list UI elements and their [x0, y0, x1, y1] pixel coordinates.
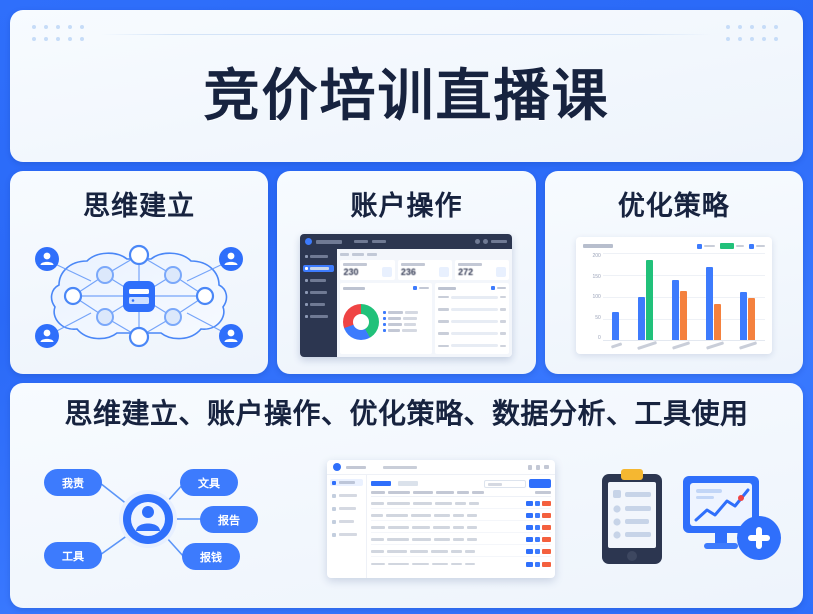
x-tick	[637, 341, 657, 350]
y-tick: 0	[598, 335, 601, 341]
stat-card: 236	[398, 260, 452, 280]
donut-chart-wrap	[343, 292, 429, 351]
bar-series1	[706, 267, 713, 340]
tab-monitored[interactable]	[398, 481, 418, 486]
chart-title-blur	[583, 244, 613, 248]
mindmap-center	[119, 490, 177, 548]
y-tick: 50	[595, 315, 601, 321]
feature-card-account-ops[interactable]: 账户操作	[277, 171, 535, 374]
column-header	[457, 491, 469, 494]
row-actions[interactable]	[526, 513, 551, 518]
pill-label: 报告	[218, 513, 240, 527]
panel-legend	[413, 286, 429, 290]
progress-bars-list	[438, 292, 506, 351]
search-input[interactable]	[484, 480, 526, 488]
stat-label-blur	[458, 263, 482, 266]
sidebar-item-active[interactable]	[303, 265, 334, 272]
bar-series1	[612, 312, 619, 340]
stat-value: 272	[458, 268, 482, 277]
gear-icon[interactable]	[536, 465, 540, 470]
pill-top-left: 我责	[44, 469, 102, 496]
clipboard-checklist-icon	[599, 468, 665, 568]
bar-chart-illustration: 200 150 100 50 0	[545, 223, 803, 374]
bell-icon[interactable]	[528, 465, 532, 470]
pill-bottom-left: 工具	[44, 542, 102, 569]
table-mockup	[327, 460, 555, 578]
table-mockup-sidebar	[327, 475, 367, 578]
y-tick: 200	[592, 253, 600, 259]
gear-icon[interactable]	[483, 239, 488, 244]
feature-card-title: 账户操作	[350, 184, 462, 223]
legend-row	[383, 317, 429, 320]
dashboard-illustration: 230 236	[277, 223, 535, 374]
page-heading-blur	[383, 466, 417, 469]
sidebar-item[interactable]	[303, 313, 334, 320]
legend-item-series1	[697, 243, 715, 249]
sidebar-item[interactable]	[303, 289, 334, 296]
mockup-content: 230 236	[337, 249, 512, 357]
stat-icon	[439, 267, 449, 277]
legend-row	[383, 311, 429, 314]
y-axis: 200 150 100 50 0	[583, 253, 603, 350]
search-button[interactable]	[529, 479, 551, 488]
header-card: 竞价培训直播课	[10, 10, 803, 162]
bottom-headline: 思维建立、账户操作、优化策略、数据分析、工具使用	[64, 392, 748, 432]
feature-cards-row: 思维建立	[10, 171, 803, 374]
sidebar-item[interactable]	[330, 518, 363, 525]
bar-series3	[680, 291, 687, 340]
bar-group	[672, 253, 687, 340]
table-mockup-content	[367, 475, 555, 578]
sidebar-item[interactable]	[303, 301, 334, 308]
monitor-trend-chart-icon	[679, 470, 785, 566]
bar-group	[740, 253, 755, 340]
pill-bottom-right: 报钱	[182, 543, 240, 570]
column-header	[388, 491, 410, 494]
breadcrumb	[340, 252, 509, 257]
chart-bar-groups	[603, 253, 765, 341]
chart-legend	[697, 243, 765, 249]
stat-value: 236	[401, 268, 425, 277]
bar-series3	[714, 304, 721, 340]
user-name-blur[interactable]	[491, 240, 507, 243]
legend-item-series2	[720, 243, 744, 249]
legend-row	[383, 323, 429, 326]
panels-row	[340, 283, 509, 354]
pill-mid-right: 报告	[200, 506, 258, 533]
sidebar-item[interactable]	[303, 253, 334, 260]
brand-name-blur	[316, 240, 342, 244]
donut-chart	[343, 304, 379, 340]
stat-card: 230	[340, 260, 394, 280]
y-tick: 150	[592, 274, 600, 280]
nav-item-blur	[372, 240, 386, 243]
bar-series1	[740, 292, 747, 340]
tab-all-data[interactable]	[371, 481, 391, 486]
feature-card-title: 优化策略	[618, 184, 730, 223]
network-mindmap-icon	[29, 237, 249, 355]
x-tick	[610, 343, 621, 349]
bottom-illustrations: 我责 工具 文具 报告 报钱	[10, 432, 803, 608]
stat-icon	[382, 267, 392, 277]
donut-panel	[340, 283, 432, 354]
progress-row	[438, 296, 506, 299]
progress-row	[438, 320, 506, 323]
row-actions[interactable]	[526, 562, 551, 567]
legend-item-series3	[749, 243, 765, 249]
x-tick	[672, 342, 690, 350]
dashboard-mockup: 230 236	[300, 234, 512, 357]
sidebar-item[interactable]	[330, 505, 363, 512]
table-header-row	[371, 491, 551, 497]
donut-legend	[383, 311, 429, 332]
progress-row	[438, 308, 506, 311]
table-mockup-topbar	[327, 460, 555, 475]
panel-header	[438, 286, 506, 290]
bar-series2	[646, 260, 653, 340]
dot-grid-left-icon	[32, 25, 87, 44]
table-row[interactable]	[371, 500, 551, 509]
brand-logo-icon	[305, 238, 312, 245]
brand-name-blur	[346, 466, 366, 469]
column-header	[413, 491, 433, 494]
header-divider	[101, 34, 712, 35]
x-tick	[706, 342, 724, 350]
chart-header	[583, 243, 765, 249]
bar-series3	[748, 298, 755, 340]
table-mockup-body	[327, 475, 555, 578]
table-row[interactable]	[371, 536, 551, 545]
panel-title-blur	[438, 287, 456, 290]
column-header	[472, 491, 484, 494]
table-row[interactable]	[371, 512, 551, 521]
network-illustration	[10, 223, 268, 374]
mindmap-illustration: 我责 工具 文具 报告 报钱	[24, 457, 282, 581]
bar-group	[706, 253, 721, 340]
dot-grid-right-icon	[726, 25, 781, 44]
stat-value: 230	[343, 268, 367, 277]
bars-panel	[435, 283, 509, 354]
progress-row	[438, 344, 506, 347]
progress-row	[438, 332, 506, 335]
chart-plot: 200 150 100 50 0	[583, 253, 765, 350]
header-decoration	[10, 10, 803, 58]
column-header	[535, 491, 551, 494]
column-header	[436, 491, 454, 494]
pill-label: 我责	[62, 476, 84, 490]
table-row[interactable]	[371, 548, 551, 557]
mockup-sidebar	[300, 249, 337, 357]
y-tick: 100	[592, 294, 600, 300]
sidebar-item[interactable]	[303, 277, 334, 284]
stat-label-blur	[401, 263, 425, 266]
add-plus-badge-icon	[737, 516, 781, 560]
row-actions[interactable]	[526, 525, 551, 530]
nav-item-blur	[354, 240, 368, 243]
row-actions[interactable]	[526, 537, 551, 542]
panel-title-blur	[343, 287, 365, 290]
row-actions[interactable]	[526, 549, 551, 554]
bottom-card: 思维建立、账户操作、优化策略、数据分析、工具使用	[10, 383, 803, 608]
pill-label: 文具	[198, 476, 220, 490]
table-tabs	[371, 479, 551, 488]
table-row[interactable]	[371, 524, 551, 533]
column-header	[371, 491, 385, 494]
bar-chart-mockup: 200 150 100 50 0	[576, 237, 772, 354]
bar-group	[638, 253, 653, 340]
panel-header	[343, 286, 429, 290]
pill-label: 报钱	[200, 550, 222, 564]
bell-icon[interactable]	[475, 239, 480, 244]
bar-series1	[638, 297, 645, 341]
stat-label-blur	[343, 263, 367, 266]
feature-card-optimization[interactable]: 优化策略 200 150	[545, 171, 803, 374]
bar-group	[612, 253, 619, 340]
table-row[interactable]	[371, 560, 551, 569]
panel-legend	[491, 286, 506, 290]
legend-row	[383, 329, 429, 332]
feature-card-mindset[interactable]: 思维建立	[10, 171, 268, 374]
x-axis	[603, 341, 765, 350]
server-icon	[123, 281, 155, 312]
sidebar-item[interactable]	[330, 531, 363, 538]
sidebar-item-active[interactable]	[330, 479, 363, 486]
stat-icon	[496, 267, 506, 277]
logout-icon[interactable]	[544, 465, 549, 469]
brand-logo-icon	[333, 463, 341, 471]
mockup-body: 230 236	[300, 249, 512, 357]
row-actions[interactable]	[526, 501, 551, 506]
feature-card-title: 思维建立	[83, 184, 195, 223]
mockup-topbar	[300, 234, 512, 249]
sidebar-item[interactable]	[330, 492, 363, 499]
page-title: 竞价培训直播课	[204, 68, 610, 124]
chart-area	[603, 253, 765, 350]
x-tick	[739, 342, 757, 350]
bottom-icon-group	[599, 468, 785, 570]
pill-top-right: 文具	[180, 469, 238, 496]
pill-label: 工具	[62, 550, 84, 563]
bar-series1	[672, 280, 679, 340]
poster-root: 竞价培训直播课 思维建立	[0, 0, 813, 614]
table-search	[484, 479, 551, 488]
stat-cards-row: 230 236	[340, 260, 509, 280]
stat-card: 272	[455, 260, 509, 280]
